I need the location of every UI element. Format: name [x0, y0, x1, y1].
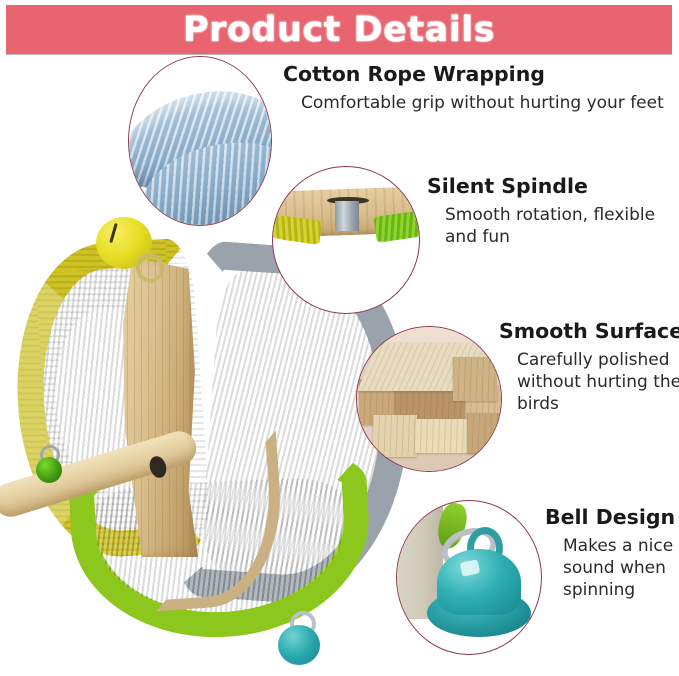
feature-description: Carefully polished without hurting the b…	[517, 349, 679, 416]
wood-blocks-closeup-icon	[357, 327, 501, 471]
green-bell	[36, 457, 62, 483]
spindle-closeup-icon	[273, 167, 419, 313]
teal-bell	[278, 625, 320, 665]
feature-description: Comfortable grip without hurting your fe…	[301, 92, 664, 114]
callout-bell-design	[396, 500, 542, 655]
callout-cotton-rope-wrapping	[128, 56, 272, 226]
feature-text-smooth-surface: Smooth Surface Carefully polished withou…	[499, 320, 679, 416]
feature-title: Silent Spindle	[427, 175, 679, 199]
bell-dome	[437, 549, 521, 615]
wood-block	[467, 413, 502, 453]
callout-smooth-surface	[356, 326, 502, 472]
header-banner: Product Details	[6, 5, 672, 55]
wood-block	[373, 415, 417, 457]
cotton-rope-closeup-icon	[129, 57, 271, 225]
feature-text-bell-design: Bell Design Makes a nice sound when spin…	[545, 506, 679, 602]
feature-title: Cotton Rope Wrapping	[283, 63, 664, 87]
feature-description: Makes a nice sound when spinning	[563, 535, 679, 602]
feature-title: Smooth Surface	[499, 320, 679, 344]
feature-title: Bell Design	[545, 506, 679, 530]
wooden-post	[319, 225, 377, 314]
feature-text-cotton-rope-wrapping: Cotton Rope Wrapping Comfortable grip wi…	[283, 63, 664, 114]
feature-description: Smooth rotation, flexible and fun	[445, 204, 679, 249]
feature-text-silent-spindle: Silent Spindle Smooth rotation, flexible…	[427, 175, 679, 248]
teal-bell-closeup-icon	[397, 501, 541, 654]
wood-block	[453, 357, 497, 401]
product-details-infographic: Product Details	[0, 0, 679, 676]
page-title: Product Details	[183, 13, 495, 48]
callout-silent-spindle	[272, 166, 420, 314]
